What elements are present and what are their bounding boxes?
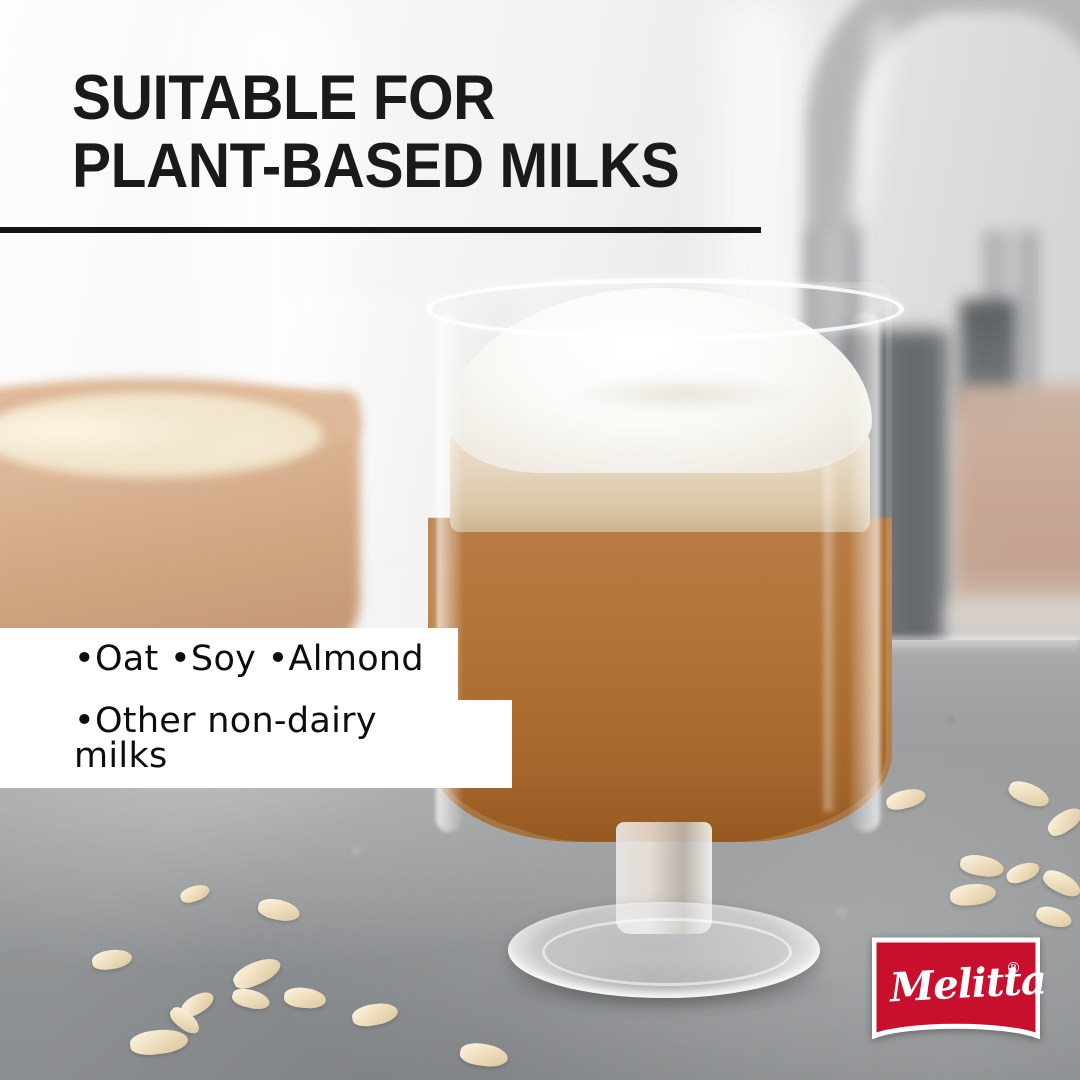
glass-right-highlight (850, 312, 880, 832)
melitta-wordmark: Melitta (888, 954, 1023, 1023)
melitta-logo: Melitta ® (872, 937, 1040, 1039)
callout-row-1: •Oat •Soy •Almond (74, 642, 470, 677)
coffee-glass (420, 282, 900, 962)
glass-rim (426, 278, 904, 340)
advertisement-canvas: SUITABLE FOR PLANT-BASED MILKS •Oat •Soy… (0, 0, 1080, 1080)
page-title: SUITABLE FOR PLANT-BASED MILKS (72, 64, 679, 200)
callout-row-2: •Other non-dairy milks (74, 704, 470, 774)
glass-foot-ring (542, 918, 792, 986)
coffee-liquid (454, 518, 866, 842)
callout-text: •Oat •Soy •Almond •Other non-dairy milks (0, 628, 470, 788)
title-underline-rule (0, 227, 761, 233)
glass-inner-highlight (824, 462, 838, 812)
headline-line-1: SUITABLE FOR (72, 64, 679, 132)
registered-trademark-icon: ® (1006, 959, 1021, 977)
second-glass (955, 385, 1080, 635)
milk-foam-ridge (570, 377, 800, 411)
headline-line-2: PLANT-BASED MILKS (72, 132, 679, 200)
